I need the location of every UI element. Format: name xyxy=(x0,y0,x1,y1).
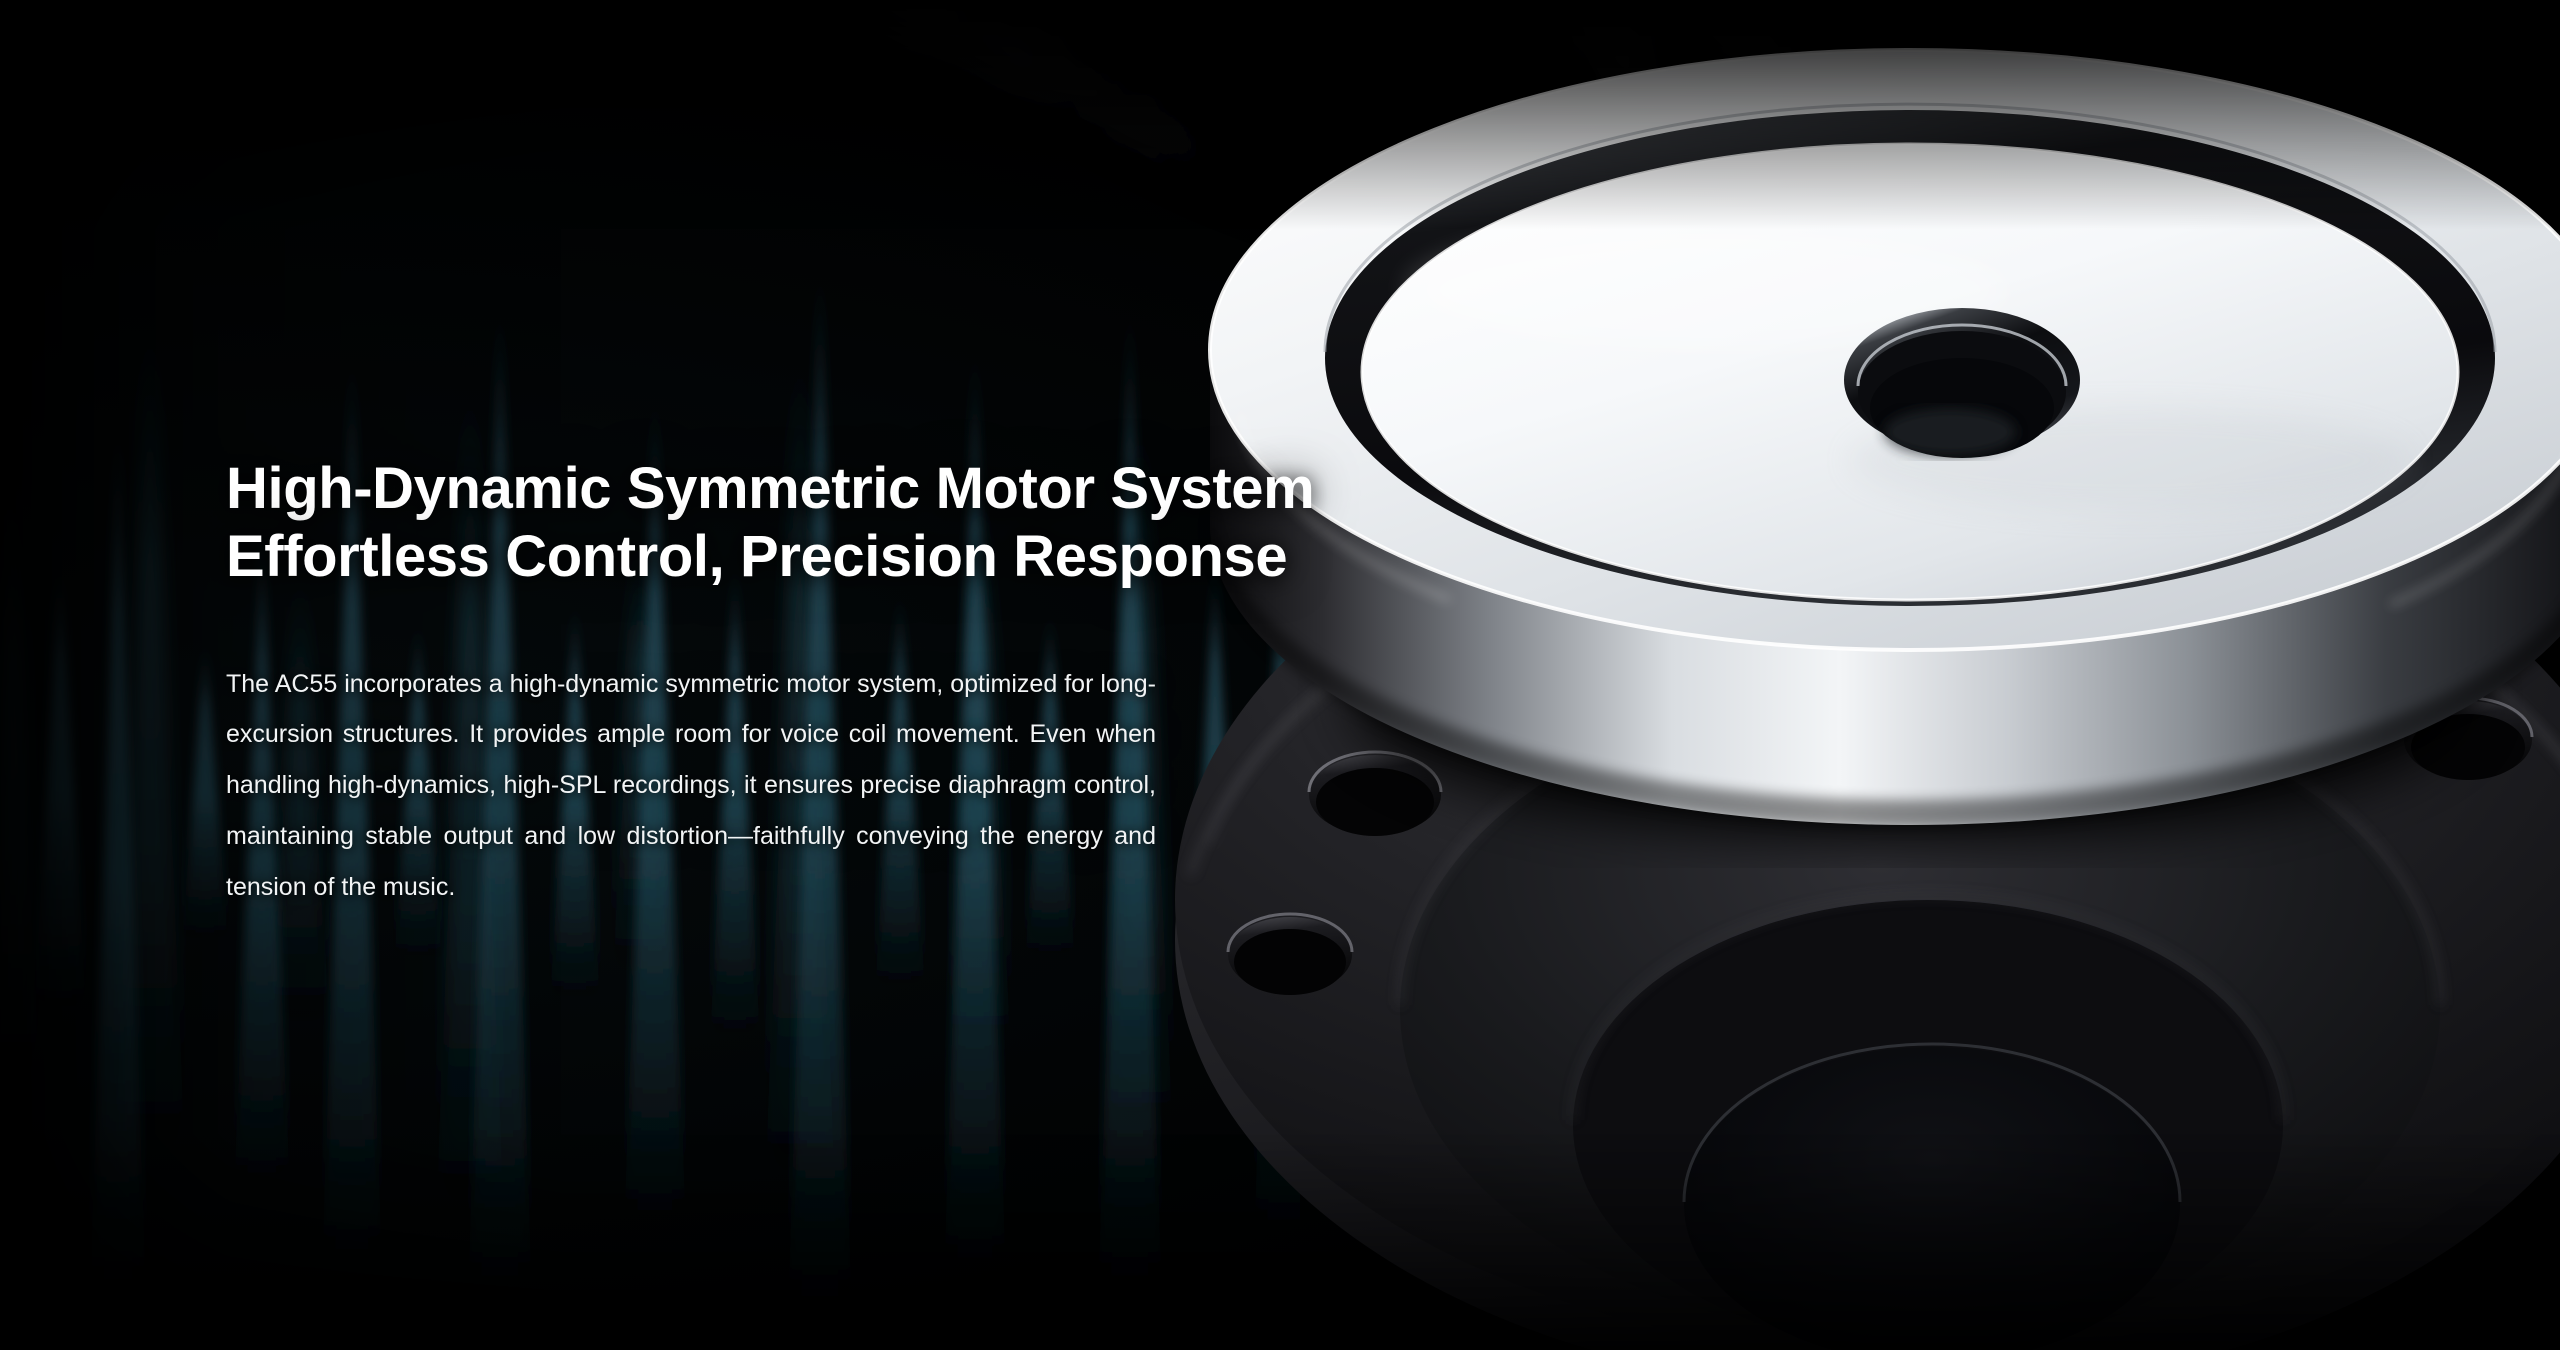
hero-banner: High-Dynamic Symmetric Motor System Effo… xyxy=(0,0,2560,1350)
page-title: High-Dynamic Symmetric Motor System Effo… xyxy=(226,455,1176,591)
headline-line-2: Effortless Control, Precision Response xyxy=(226,523,1176,591)
hero-copy: High-Dynamic Symmetric Motor System Effo… xyxy=(226,455,1176,912)
hero-description: The AC55 incorporates a high-dynamic sym… xyxy=(226,659,1156,913)
headline-line-1: High-Dynamic Symmetric Motor System xyxy=(226,456,1314,521)
